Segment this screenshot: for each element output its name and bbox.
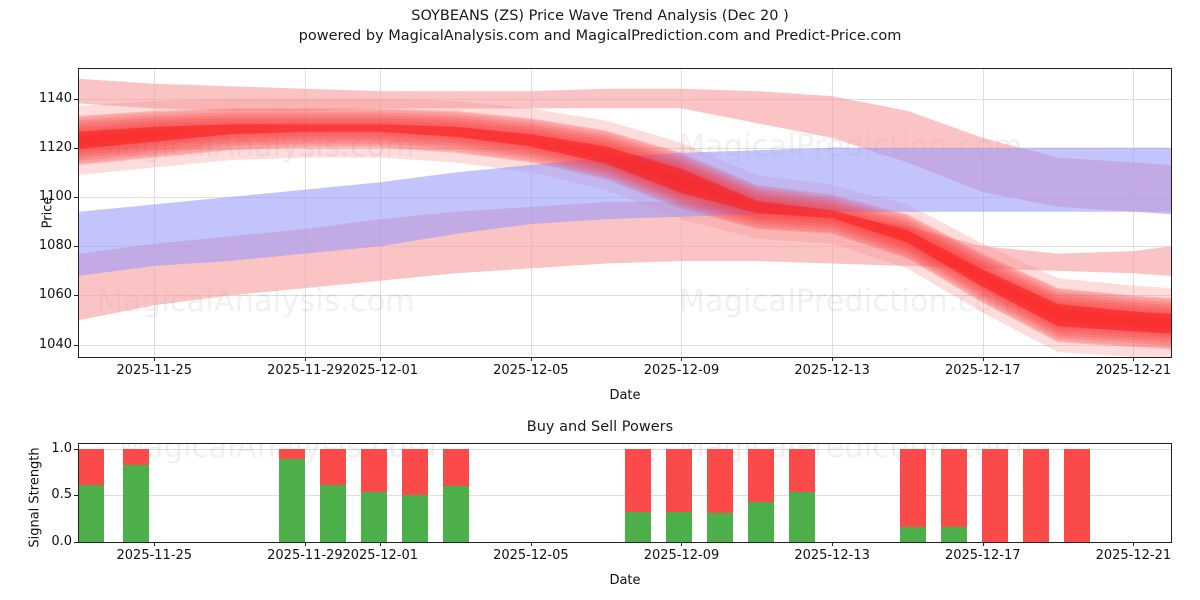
buy-sell-bar[interactable]: [941, 449, 967, 542]
buy-power-segment: [789, 492, 815, 542]
sell-power-segment: [361, 449, 387, 492]
price-x-tick-label: 2025-12-17: [945, 363, 1021, 378]
buy-power-segment: [707, 513, 733, 542]
buy-sell-bar[interactable]: [123, 449, 149, 542]
price-y-tickmark: [74, 246, 78, 247]
buy-sell-y-tickmark: [74, 495, 78, 496]
price-x-tick-label: 2025-12-13: [794, 363, 870, 378]
buy-power-segment: [320, 485, 346, 542]
buy-sell-bar[interactable]: [666, 449, 692, 542]
buy-power-segment: [279, 459, 305, 542]
buy-sell-bar[interactable]: [1023, 449, 1049, 542]
buy-sell-bar[interactable]: [1064, 449, 1090, 542]
sell-power-segment: [789, 449, 815, 492]
buy-sell-gridline-h-0: [79, 542, 1171, 543]
buy-sell-x-tickmark: [531, 542, 532, 546]
buy-sell-bar[interactable]: [707, 449, 733, 542]
price-x-tickmark: [832, 357, 833, 361]
buy-power-segment: [402, 495, 428, 542]
price-y-tick-label: 1120: [0, 140, 72, 155]
price-x-tickmark: [305, 357, 306, 361]
price-y-tick-label: 1080: [0, 238, 72, 253]
price-x-tickmark: [1133, 357, 1134, 361]
price-x-tick-label: 2025-12-05: [493, 363, 569, 378]
price-x-tick-label: 2025-12-21: [1096, 363, 1172, 378]
buy-sell-bar[interactable]: [279, 449, 305, 542]
price-y-tickmark: [74, 197, 78, 198]
buy-sell-bar[interactable]: [79, 449, 104, 542]
buy-sell-x-tickmark: [983, 542, 984, 546]
buy-sell-bar[interactable]: [320, 449, 346, 542]
sell-power-segment: [982, 449, 1008, 542]
price-wave-analysis-screen: SOYBEANS (ZS) Price Wave Trend Analysis …: [0, 0, 1200, 600]
buy-sell-x-tick-label: 2025-12-09: [644, 548, 720, 563]
buy-sell-bar[interactable]: [748, 449, 774, 542]
buy-sell-x-tickmark: [154, 542, 155, 546]
sell-power-segment: [79, 449, 104, 485]
sell-power-segment: [279, 449, 305, 459]
price-x-tick-label: 2025-11-25: [117, 363, 193, 378]
buy-sell-bar[interactable]: [789, 449, 815, 542]
page-title: SOYBEANS (ZS) Price Wave Trend Analysis …: [0, 6, 1200, 26]
price-x-tickmark: [531, 357, 532, 361]
sell-power-segment: [941, 449, 967, 527]
buy-sell-bar[interactable]: [361, 449, 387, 542]
sell-power-segment: [900, 449, 926, 527]
price-y-tickmark: [74, 295, 78, 296]
buy-sell-y-tickmark: [74, 542, 78, 543]
buy-power-segment: [79, 485, 104, 542]
buy-sell-x-axis-label: Date: [78, 573, 1172, 588]
price-wave-svg: [79, 69, 1171, 357]
buy-power-segment: [666, 512, 692, 542]
price-x-tick-label: 2025-11-29: [267, 363, 343, 378]
price-y-tickmark: [74, 345, 78, 346]
price-x-tickmark: [681, 357, 682, 361]
buy-sell-x-tickmark: [380, 542, 381, 546]
buy-power-segment: [443, 486, 469, 542]
buy-sell-y-tickmark: [74, 449, 78, 450]
buy-sell-y-axis-label: Signal Strength: [28, 418, 43, 578]
buy-sell-x-tickmark: [681, 542, 682, 546]
sell-power-segment: [443, 449, 469, 486]
chart-title-block: SOYBEANS (ZS) Price Wave Trend Analysis …: [0, 6, 1200, 46]
buy-sell-x-tick-label: 2025-12-01: [342, 548, 418, 563]
sell-power-segment: [707, 449, 733, 513]
buy-sell-chart-title: Buy and Sell Powers: [0, 419, 1200, 435]
buy-sell-bar[interactable]: [443, 449, 469, 542]
price-x-tickmark: [154, 357, 155, 361]
buy-sell-x-tick-label: 2025-11-29: [267, 548, 343, 563]
buy-sell-x-tick-label: 2025-12-17: [945, 548, 1021, 563]
price-chart-x-axis-label: Date: [78, 388, 1172, 403]
buy-power-segment: [361, 492, 387, 542]
price-x-tickmark: [983, 357, 984, 361]
sell-power-segment: [666, 449, 692, 512]
buy-sell-bars: [79, 444, 1171, 542]
buy-sell-bar[interactable]: [982, 449, 1008, 542]
price-x-tick-label: 2025-12-01: [342, 363, 418, 378]
price-chart-y-axis-label: Price: [41, 153, 56, 273]
buy-sell-x-tickmark: [305, 542, 306, 546]
page-subtitle: powered by MagicalAnalysis.com and Magic…: [0, 26, 1200, 46]
buy-sell-bar[interactable]: [402, 449, 428, 542]
buy-sell-x-tick-label: 2025-12-21: [1096, 548, 1172, 563]
price-y-tickmark: [74, 148, 78, 149]
buy-sell-bar[interactable]: [625, 449, 651, 542]
buy-sell-powers-chart: MagicalAnalysis.comMagicalPrediction.com: [78, 443, 1172, 543]
sell-power-segment: [320, 449, 346, 485]
buy-sell-x-tickmark: [832, 542, 833, 546]
price-wave-bands: [79, 69, 1171, 357]
price-y-tick-label: 1040: [0, 337, 72, 352]
price-y-tick-label: 1060: [0, 287, 72, 302]
price-y-tick-label: 1100: [0, 189, 72, 204]
buy-sell-x-tickmark: [1133, 542, 1134, 546]
sell-power-segment: [1064, 449, 1090, 542]
buy-sell-x-tick-label: 2025-12-13: [794, 548, 870, 563]
buy-power-segment: [625, 512, 651, 542]
sell-power-segment: [123, 449, 149, 465]
buy-power-segment: [748, 502, 774, 542]
buy-sell-x-tick-label: 2025-12-05: [493, 548, 569, 563]
buy-power-segment: [900, 527, 926, 542]
price-y-tickmark: [74, 99, 78, 100]
buy-sell-bar[interactable]: [900, 449, 926, 542]
price-y-tick-label: 1140: [0, 91, 72, 106]
price-x-tickmark: [380, 357, 381, 361]
sell-power-segment: [1023, 449, 1049, 542]
buy-power-segment: [123, 465, 149, 542]
buy-power-segment: [941, 527, 967, 542]
buy-sell-x-tick-label: 2025-11-25: [117, 548, 193, 563]
price-x-tick-label: 2025-12-09: [644, 363, 720, 378]
sell-power-segment: [402, 449, 428, 496]
sell-power-segment: [748, 449, 774, 502]
sell-power-segment: [625, 449, 651, 512]
price-wave-chart: MagicalAnalysis.comMagicalPrediction.com…: [78, 68, 1172, 358]
